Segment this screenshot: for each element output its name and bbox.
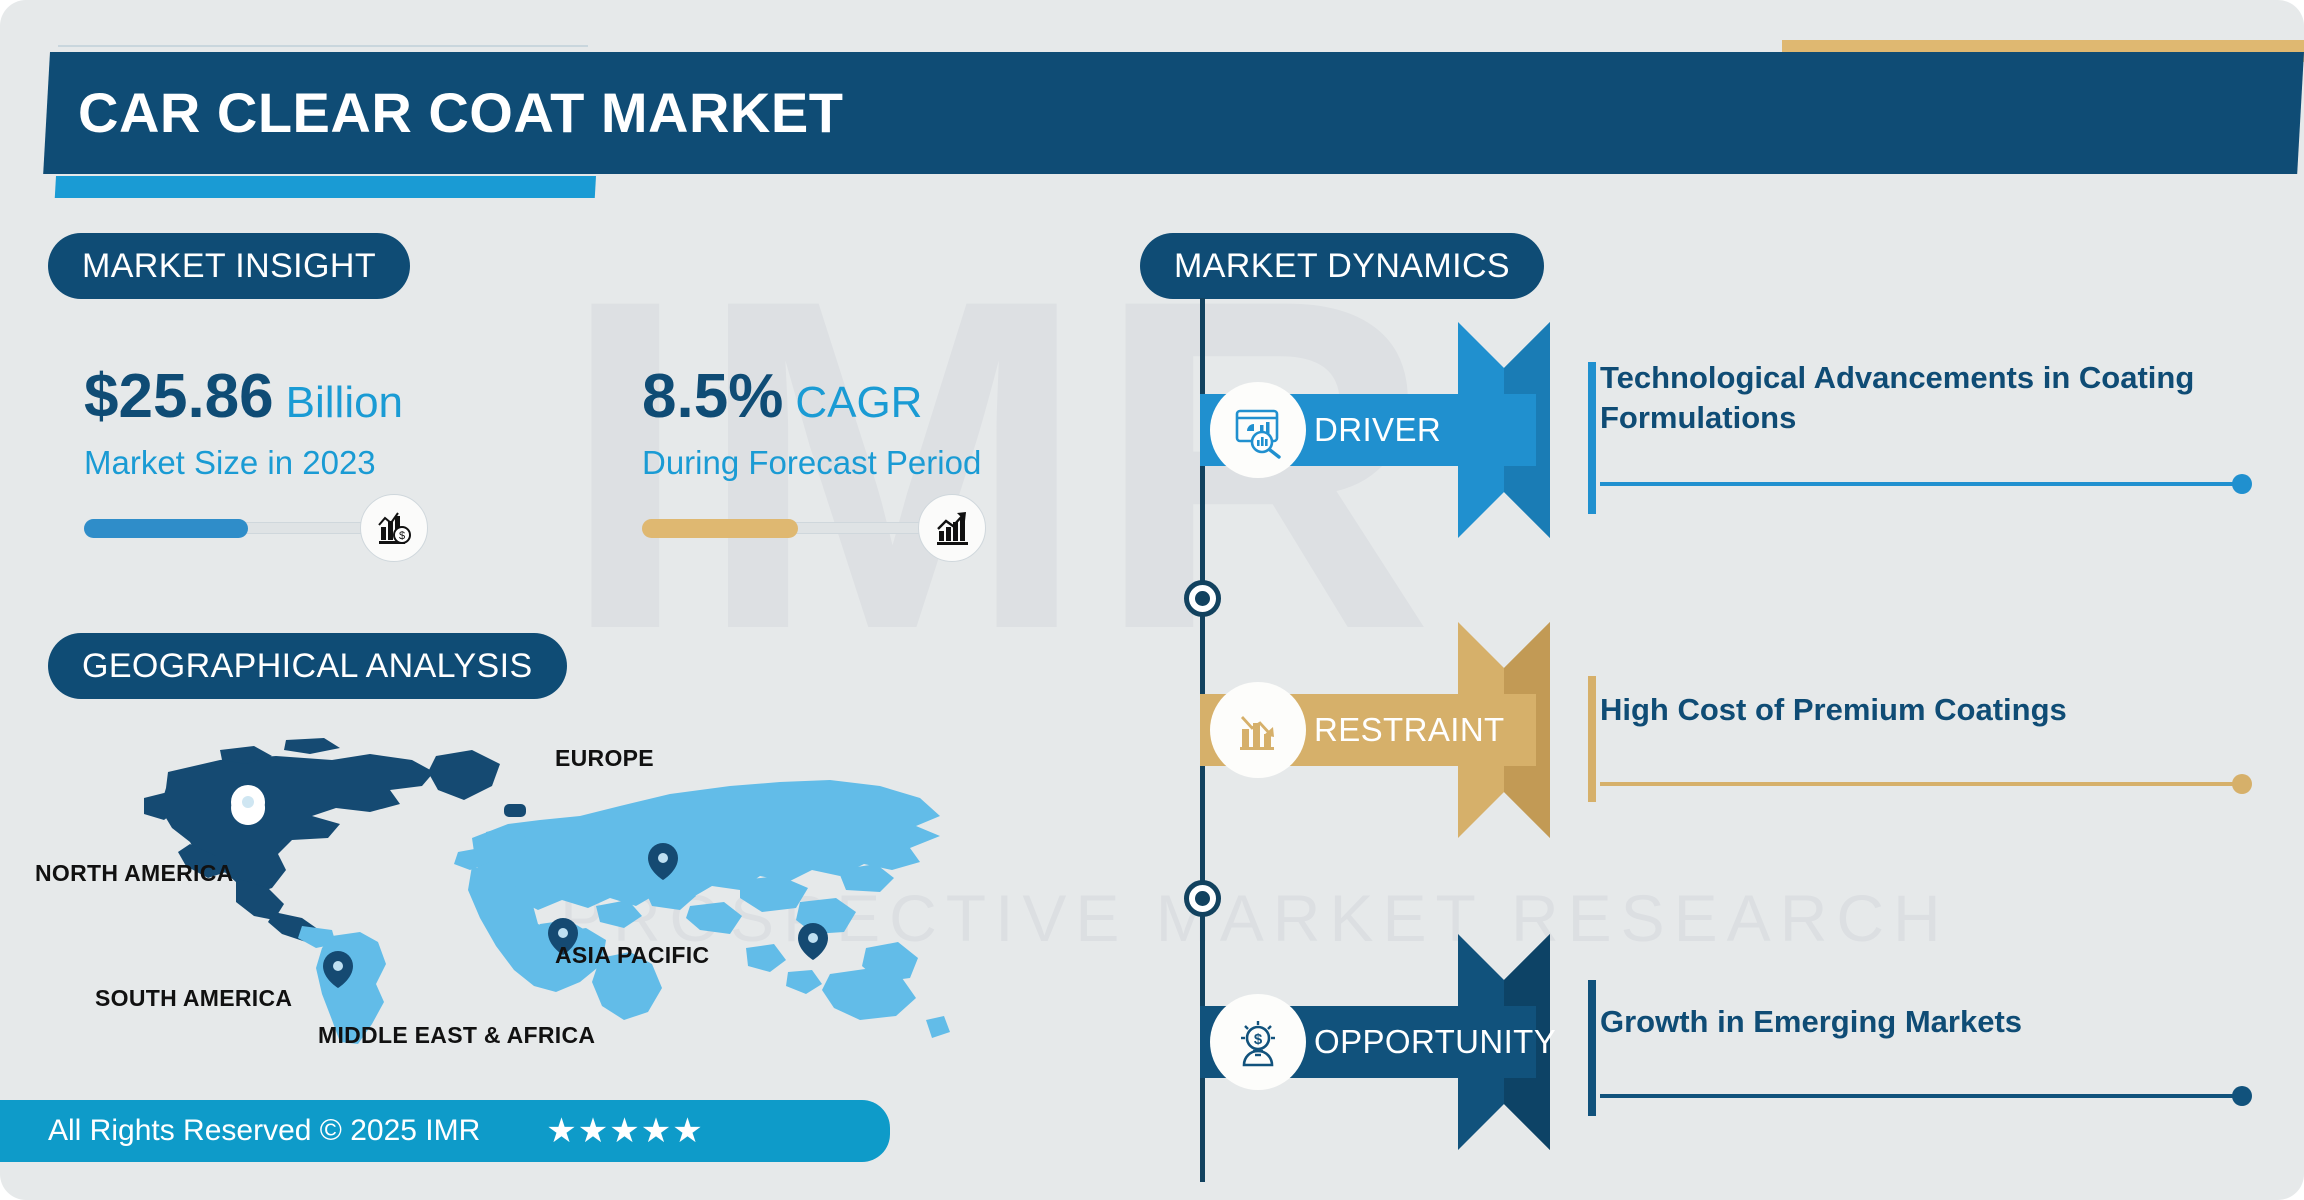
copyright-text: All Rights Reserved © 2025 IMR	[48, 1114, 480, 1148]
cagr-value: 8.5%	[642, 362, 783, 431]
world-map: NORTH AMERICA SOUTH AMERICA MIDDLE EAST …	[40, 720, 1050, 1050]
stat-market-size: $25.86Billion Market Size in 2023 $	[84, 366, 504, 548]
cagr-unit: CAGR	[795, 378, 922, 427]
timeline-node-2	[1184, 880, 1221, 917]
driver-left-accent	[1588, 362, 1596, 514]
analytics-search-icon	[1210, 382, 1306, 478]
infographic-canvas: IMR PROSPECTIVE MARKET RESEARCH CAR CLEA…	[0, 0, 2304, 1200]
bar-chart-dollar-icon: $	[360, 494, 428, 562]
region-oceania[interactable]	[822, 968, 950, 1038]
cagr-progress	[642, 508, 1002, 548]
driver-ribbon[interactable]: DRIVER	[1200, 394, 1530, 466]
title-hairline	[58, 45, 588, 47]
map-label-europe: EUROPE	[555, 745, 654, 772]
lightbulb-dollar-icon: $	[1210, 994, 1306, 1090]
market-size-label: Market Size in 2023	[84, 444, 504, 482]
growth-arrow-chart-icon	[918, 494, 986, 562]
market-dynamics-section: DRIVER Technological Advancements in Coa…	[1140, 290, 2300, 1200]
restraint-text: High Cost of Premium Coatings	[1600, 690, 2260, 730]
timeline-node-1	[1184, 580, 1221, 617]
restraint-left-accent	[1588, 676, 1596, 802]
restraint-underline	[1600, 782, 2240, 786]
market-size-unit: Billion	[286, 378, 403, 427]
map-pin-north-america[interactable]	[231, 785, 265, 825]
region-north-america[interactable]	[144, 738, 526, 942]
footer-bar: All Rights Reserved © 2025 IMR ★★★★★	[0, 1100, 890, 1162]
driver-underline	[1600, 482, 2240, 486]
geographical-analysis-badge: GEOGRAPHICAL ANALYSIS	[48, 633, 567, 699]
page-title: CAR CLEAR COAT MARKET	[78, 80, 843, 145]
declining-chart-icon	[1210, 682, 1306, 778]
map-label-south-america: SOUTH AMERICA	[95, 985, 292, 1012]
svg-text:$: $	[1254, 1031, 1263, 1048]
rating-stars: ★★★★★	[546, 1111, 703, 1151]
restraint-dot	[2232, 774, 2252, 794]
restraint-ribbon[interactable]: RESTRAINT	[1200, 694, 1530, 766]
opportunity-label: OPPORTUNITY	[1314, 1006, 1556, 1078]
driver-text: Technological Advancements in Coating Fo…	[1600, 358, 2260, 437]
restraint-label: RESTRAINT	[1314, 694, 1505, 766]
stat-cagr: 8.5%CAGR During Forecast Period	[642, 366, 1062, 548]
driver-label: DRIVER	[1314, 394, 1441, 466]
driver-dot	[2232, 474, 2252, 494]
map-label-north-america: NORTH AMERICA	[35, 860, 234, 887]
opportunity-ribbon[interactable]: $ OPPORTUNITY	[1200, 1006, 1530, 1078]
opportunity-text: Growth in Emerging Markets	[1600, 1002, 2260, 1042]
market-size-progress: $	[84, 508, 444, 548]
map-label-middle-east-africa: MIDDLE EAST & AFRICA	[318, 1022, 595, 1049]
progress-fill	[84, 519, 248, 538]
header-accent-bar	[55, 176, 596, 198]
stat-value-row: $25.86Billion	[84, 366, 504, 428]
opportunity-underline	[1600, 1094, 2240, 1098]
opportunity-left-accent	[1588, 980, 1596, 1116]
market-size-value: $25.86	[84, 362, 274, 431]
stat-value-row: 8.5%CAGR	[642, 366, 1062, 428]
market-insight-badge: MARKET INSIGHT	[48, 233, 410, 299]
progress-fill	[642, 519, 798, 538]
cagr-label: During Forecast Period	[642, 444, 1062, 482]
map-label-asia-pacific: ASIA PACIFIC	[555, 942, 709, 969]
svg-text:$: $	[399, 530, 405, 542]
map-pin-asia-pacific[interactable]	[798, 923, 828, 960]
opportunity-dot	[2232, 1086, 2252, 1106]
